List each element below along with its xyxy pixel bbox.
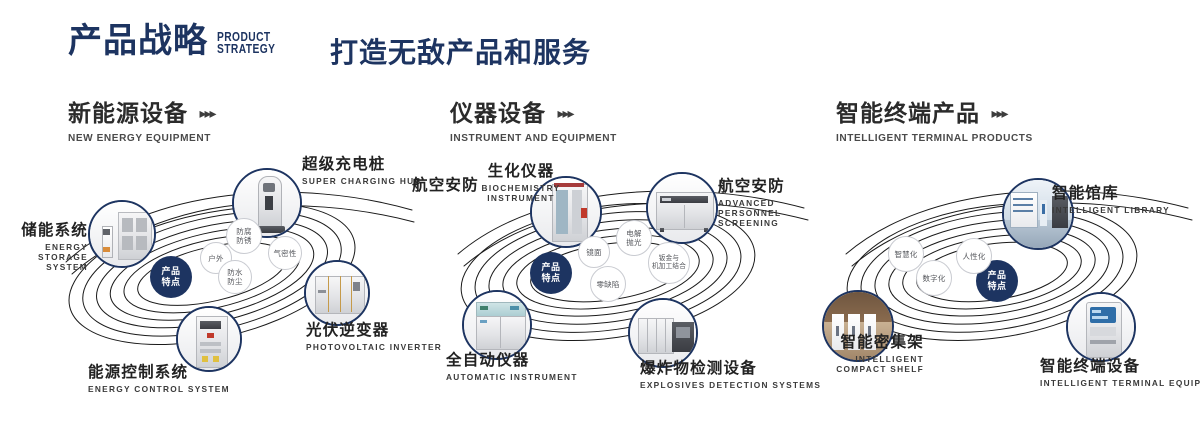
screening-machine-photo: [648, 174, 716, 242]
caption-en: INTELLIGENT TERMINAL EQUIPMENT: [1040, 378, 1200, 388]
bubble-humanization[interactable]: 人性化: [956, 238, 992, 274]
chevron-right-icon: ▸▸▸: [991, 105, 1006, 122]
bubble-label: 产品特点: [161, 266, 180, 288]
bubble-label: 数字化: [922, 274, 945, 283]
caption-cn: 能源控制系统: [88, 360, 230, 382]
bubble-zero-defect[interactable]: 零缺陷: [590, 266, 626, 302]
page-title-cn: 产品战略: [68, 24, 208, 58]
bubble-anticorrosion[interactable]: 防腐防锈: [226, 218, 262, 254]
section-title-cn: 仪器设备: [450, 94, 546, 128]
bubble-airtightness[interactable]: 气密性: [268, 236, 302, 270]
caption-en: INTELLIGENT LIBRARY: [1052, 205, 1170, 215]
caption-biochemistry-instrument: 生化仪器 BIOCHEMISTRY INSTRUMENT: [462, 159, 580, 203]
caption-energy-control-system: 能源控制系统 ENERGY CONTROL SYSTEM: [88, 360, 230, 394]
caption-cn: 生化仪器: [462, 159, 580, 181]
caption-cn: 智能密集架: [806, 330, 924, 352]
caption-en: ENERGY CONTROL SYSTEM: [88, 384, 230, 394]
bubble-label: 防腐防锈: [236, 227, 251, 245]
bubble-product-features[interactable]: 产品特点: [150, 256, 192, 298]
bubble-product-features[interactable]: 产品特点: [530, 252, 572, 294]
bubble-digitalization[interactable]: 数字化: [916, 260, 952, 296]
page-title-en-line2: STRATEGY: [217, 43, 275, 55]
bubble-label: 智慧化: [894, 250, 917, 259]
bubble-label: 零缺陷: [596, 280, 619, 289]
section-title-en: INTELLIGENT TERMINAL PRODUCTS: [836, 132, 1033, 144]
bubble-label: 户外: [208, 254, 223, 263]
bubble-electro-polishing[interactable]: 电解抛光: [616, 220, 652, 256]
caption-cn: 智能馆库: [1052, 181, 1170, 203]
bubble-label: 产品特点: [987, 270, 1006, 292]
bubble-label: 电解抛光: [626, 229, 641, 247]
page-title-en: PRODUCT STRATEGY: [217, 31, 275, 55]
caption-energy-storage-system: 储能系统 ENERGY STORAGE SYSTEM: [0, 218, 88, 272]
caption-en: BIOCHEMISTRY INSTRUMENT: [462, 183, 580, 203]
caption-intelligent-compact-shelf: 智能密集架 INTELLIGENT COMPACT SHELF: [806, 330, 924, 374]
caption-en: INTELLIGENT COMPACT SHELF: [806, 354, 924, 374]
bubble-label: 防水防尘: [227, 268, 242, 286]
bubble-label: 产品特点: [541, 262, 560, 284]
bubble-mirror-finish[interactable]: 镜面: [578, 236, 610, 268]
caption-en: ENERGY STORAGE SYSTEM: [0, 242, 88, 272]
section-title-en: NEW ENERGY EQUIPMENT: [68, 132, 211, 144]
caption-en: AUTOMATIC INSTRUMENT: [446, 372, 578, 382]
chevron-right-icon: ▸▸▸: [199, 105, 214, 122]
chevron-right-icon: ▸▸▸: [557, 105, 572, 122]
caption-cn: 智能终端设备: [1040, 354, 1200, 376]
section-header-instrument: 仪器设备 ▸▸▸ INSTRUMENT AND EQUIPMENT: [450, 94, 624, 144]
node-advanced-personnel-screening[interactable]: [646, 172, 718, 244]
section-title-en: INSTRUMENT AND EQUIPMENT: [450, 132, 617, 144]
battery-cabinet-photo: [90, 202, 154, 266]
caption-cn: 储能系统: [0, 218, 88, 240]
node-energy-storage-system[interactable]: [88, 200, 156, 268]
caption-intelligent-library: 智能馆库 INTELLIGENT LIBRARY: [1052, 181, 1170, 215]
bubble-label: 人性化: [962, 252, 985, 261]
inverter-cabinet-photo: [306, 262, 368, 324]
section-title-cn: 新能源设备: [68, 94, 188, 128]
page-title: 产品战略 PRODUCT STRATEGY: [68, 24, 288, 58]
bubble-waterproof-dustproof[interactable]: 防水防尘: [218, 260, 252, 294]
page-subtitle: 打造无敌产品和服务: [330, 31, 591, 71]
bubble-sheetmetal-machining[interactable]: 钣金与机加工结合: [648, 242, 690, 284]
caption-intelligent-terminal-equipment: 智能终端设备 INTELLIGENT TERMINAL EQUIPMENT: [1040, 354, 1200, 388]
node-intelligent-terminal-equipment[interactable]: [1066, 292, 1136, 362]
bubble-label: 气密性: [273, 249, 296, 258]
section-header-new-energy: 新能源设备 ▸▸▸ NEW ENERGY EQUIPMENT: [68, 94, 217, 144]
bubble-label: 钣金与机加工结合: [652, 255, 686, 271]
bubble-label: 镜面: [586, 248, 601, 257]
section-title-cn: 智能终端产品: [836, 94, 980, 128]
caption-automatic-instrument: 全自动仪器 AUTOMATIC INSTRUMENT: [446, 348, 578, 382]
caption-cn: 全自动仪器: [446, 348, 578, 370]
section-header-intelligent: 智能终端产品 ▸▸▸ INTELLIGENT TERMINAL PRODUCTS: [836, 94, 1041, 144]
poster-canvas: 产品战略 PRODUCT STRATEGY 打造无敌产品和服务 新能源设备 ▸▸…: [0, 0, 1200, 422]
self-service-kiosk-photo: [1068, 294, 1134, 360]
node-photovoltaic-inverter[interactable]: [304, 260, 370, 326]
